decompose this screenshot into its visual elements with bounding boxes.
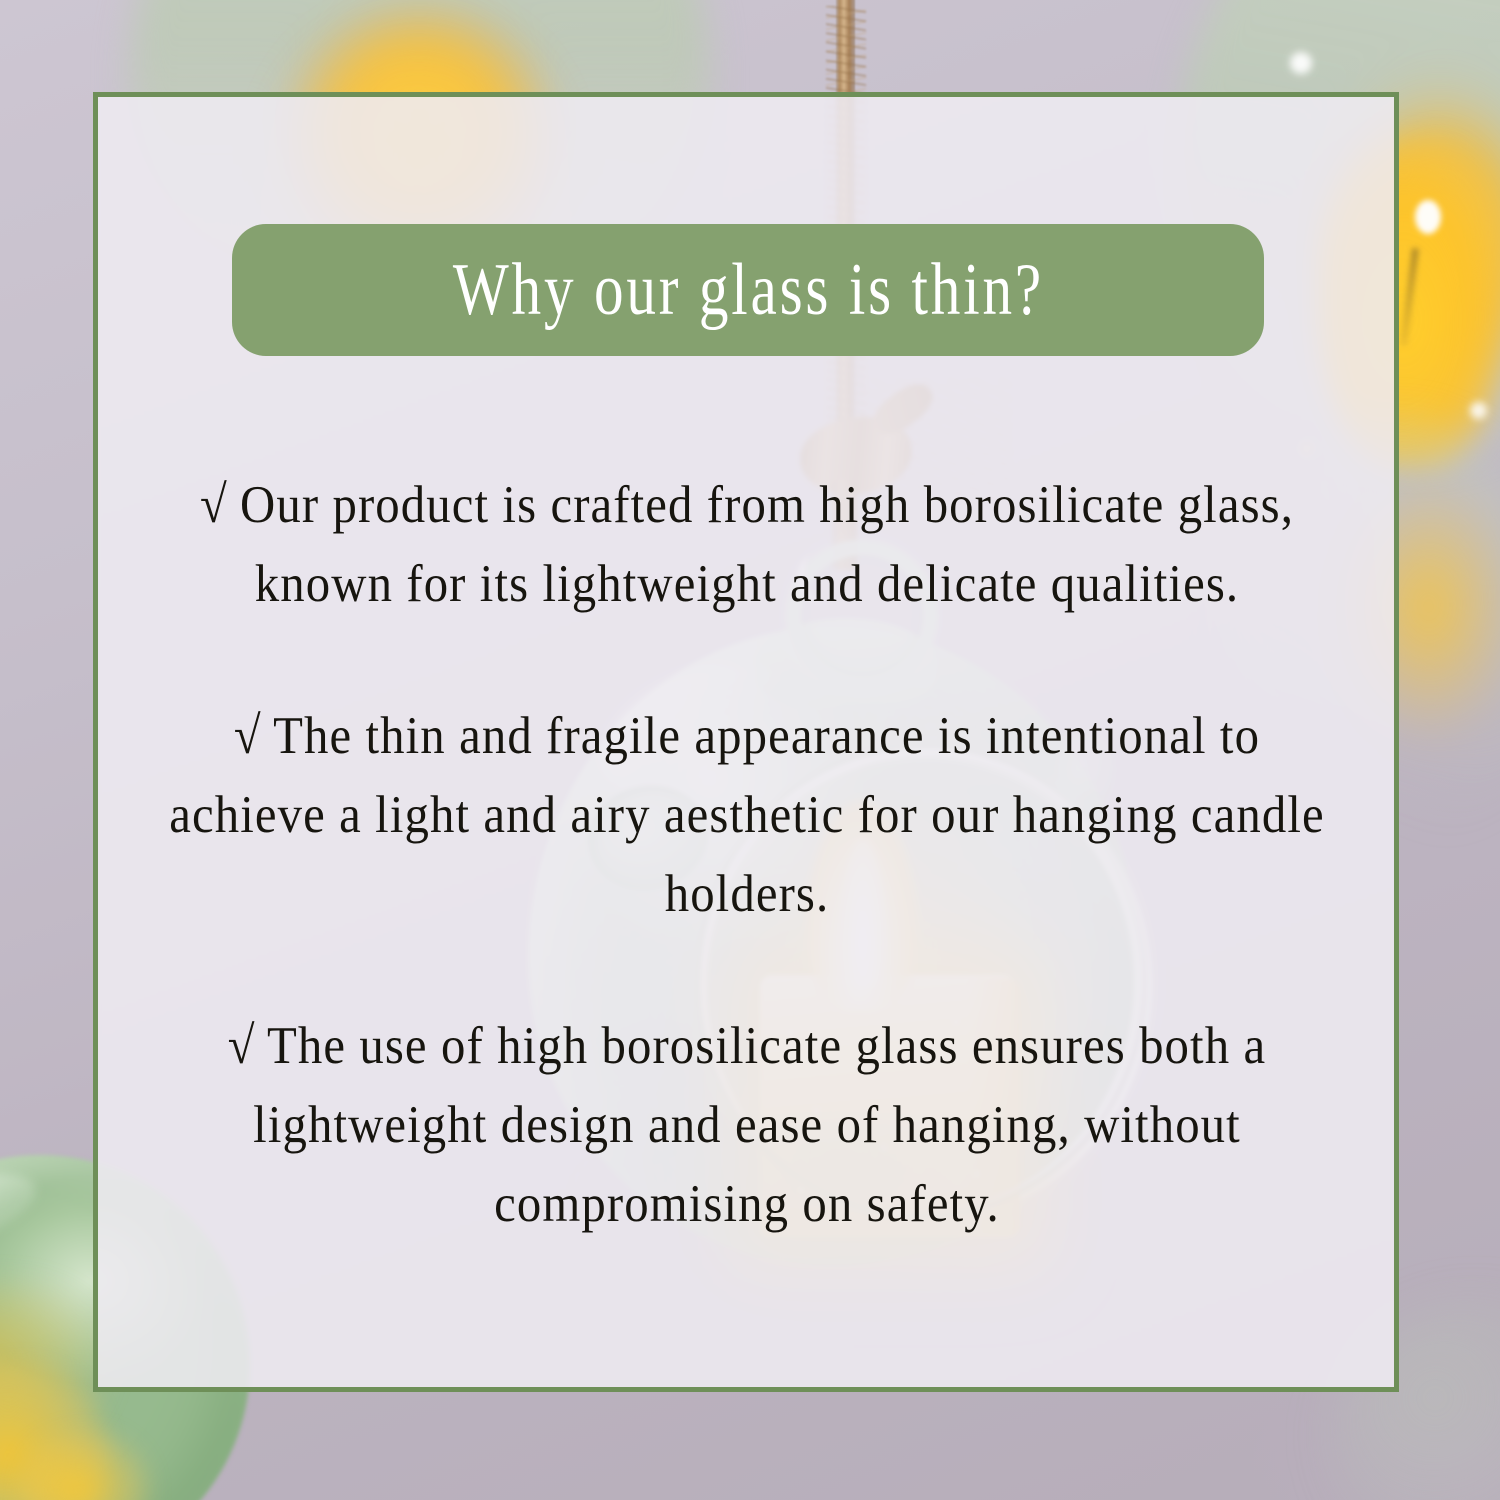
title-banner: Why our glass is thin? (232, 224, 1264, 356)
bullet-text-3: The use of high borosilicate glass ensur… (253, 1017, 1266, 1233)
check-icon: √ (234, 707, 261, 765)
bullet-text-2: The thin and fragile appearance is inten… (169, 707, 1325, 923)
page-title: Why our glass is thin? (452, 253, 1043, 327)
fairy-light-dot (1470, 402, 1487, 419)
fairy-light-dot (1290, 52, 1312, 74)
check-icon: √ (200, 476, 227, 534)
fairy-light-dot (1415, 200, 1441, 234)
bullet-item-2: √ The thin and fragile appearance is int… (163, 697, 1331, 934)
bullet-item-3: √ The use of high borosilicate glass ens… (163, 1007, 1331, 1244)
bullet-list: √ Our product is crafted from high boros… (112, 466, 1382, 1244)
bullet-item-1: √ Our product is crafted from high boros… (163, 466, 1331, 624)
product-infographic: Why our glass is thin? √ Our product is … (0, 0, 1500, 1500)
check-icon: √ (228, 1017, 255, 1075)
bullet-text-1: Our product is crafted from high borosil… (240, 476, 1294, 613)
